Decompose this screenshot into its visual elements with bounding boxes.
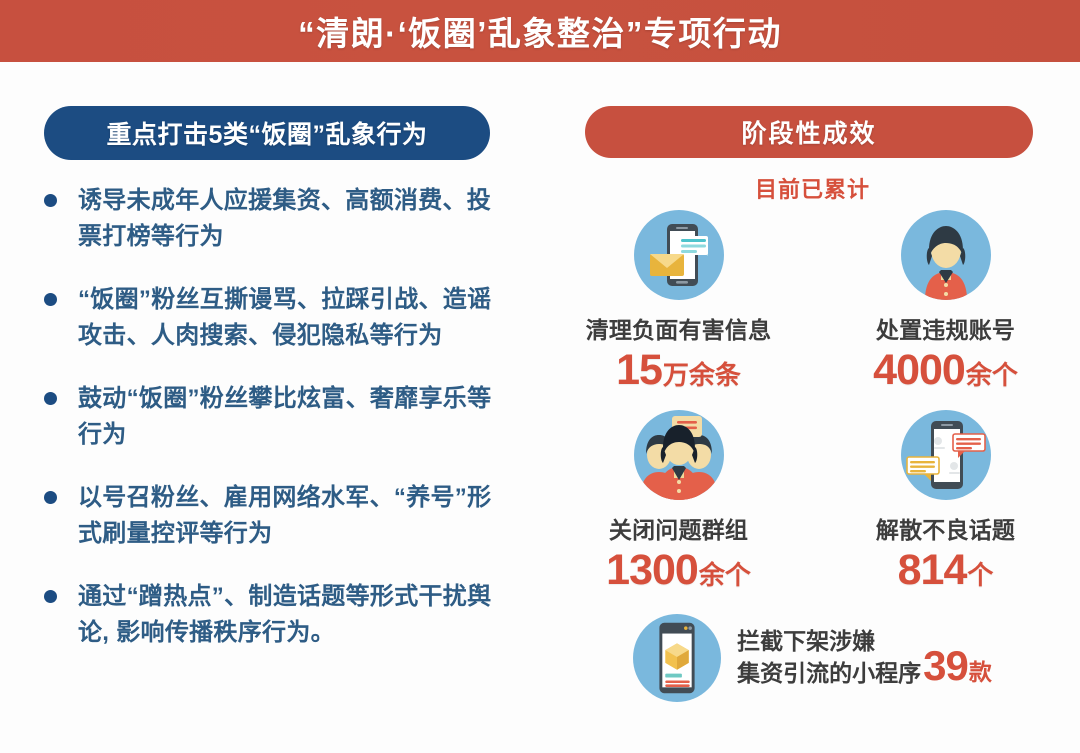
phone-chat-bubbles-icon [901, 410, 991, 500]
left-panel-header-label: 重点打击5类“饭圈”乱象行为 [107, 115, 428, 151]
stat-label: 关闭问题群组 [609, 511, 748, 545]
stat-value: 15 万余条 [616, 346, 741, 395]
stat-card: 解散不良话题 814 个 [812, 410, 1079, 610]
header-banner: “清朗·‘饭圈’乱象整治”专项行动 [0, 0, 1080, 62]
list-item: 通过“蹭热点”、制造话题等形式干扰舆论, 影响传播秩序行为。 [0, 579, 545, 652]
list-item: 诱导未成年人应援集资、高额消费、投票打榜等行为 [0, 183, 545, 256]
stat-label: 处置违规账号 [876, 311, 1015, 345]
right-panel-header-pill: 阶段性成效 [585, 106, 1033, 158]
wide-stat-unit: 款 [969, 653, 992, 687]
bullet-dot-icon [44, 194, 57, 207]
stat-unit: 余个 [966, 355, 1018, 392]
stat-unit: 个 [967, 555, 993, 592]
right-panel: 阶段性成效 目前已累计 [545, 62, 1080, 753]
wide-stat-text: 拦截下架涉嫌 集资引流的小程序 39 款 [737, 626, 992, 689]
stat-number: 4000 [873, 346, 965, 395]
bullet-dot-icon [44, 293, 57, 306]
stat-number: 15 [616, 346, 662, 395]
stat-card-wide: 拦截下架涉嫌 集资引流的小程序 39 款 [545, 614, 1080, 702]
bullet-dot-icon [44, 590, 57, 603]
stat-value: 4000 余个 [873, 346, 1018, 395]
right-panel-header-label: 阶段性成效 [741, 114, 876, 150]
user-avatar-icon-art [901, 210, 991, 300]
stat-unit: 万余条 [663, 355, 741, 392]
phone-miniprogram-icon-art [633, 614, 721, 702]
user-group-chat-icon-art [634, 410, 724, 500]
bullet-dot-icon [44, 392, 57, 405]
list-item-label: 诱导未成年人应援集资、高额消费、投票打榜等行为 [78, 183, 498, 256]
infographic-poster: “清朗·‘饭圈’乱象整治”专项行动 重点打击5类“饭圈”乱象行为 诱导未成年人应… [0, 0, 1080, 753]
stat-value: 1300 余个 [606, 546, 751, 595]
list-item: 鼓动“饭圈”粉丝攀比炫富、奢靡享乐等行为 [0, 381, 545, 454]
phone-miniprogram-icon [633, 614, 721, 702]
stat-number: 1300 [606, 546, 698, 595]
phone-message-envelope-icon [634, 210, 724, 300]
wide-stat-value: 39 款 [923, 642, 992, 690]
user-avatar-icon [901, 210, 991, 300]
stat-label: 解散不良话题 [876, 511, 1015, 545]
violation-list: 诱导未成年人应援集资、高额消费、投票打榜等行为 “饭圈”粉丝互撕谩骂、拉踩引战、… [0, 183, 545, 678]
stat-card: 处置违规账号 4000 余个 [812, 210, 1079, 410]
page-title: “清朗·‘饭圈’乱象整治”专项行动 [298, 7, 782, 55]
left-panel: 重点打击5类“饭圈”乱象行为 诱导未成年人应援集资、高额消费、投票打榜等行为 “… [0, 62, 545, 753]
wide-stat-number: 39 [923, 642, 968, 690]
list-item-label: 通过“蹭热点”、制造话题等形式干扰舆论, 影响传播秩序行为。 [78, 579, 498, 652]
stat-number: 814 [898, 546, 967, 595]
list-item: 以号召粉丝、雇用网络水军、“养号”形式刷量控评等行为 [0, 480, 545, 553]
list-item-label: 以号召粉丝、雇用网络水军、“养号”形式刷量控评等行为 [78, 480, 498, 553]
left-panel-header-pill: 重点打击5类“饭圈”乱象行为 [44, 106, 490, 160]
wide-stat-label-line1: 拦截下架涉嫌 [737, 626, 921, 658]
list-item: “饭圈”粉丝互撕谩骂、拉踩引战、造谣攻击、人肉搜索、侵犯隐私等行为 [0, 282, 545, 355]
right-panel-subtitle: 目前已累计 [545, 172, 1080, 204]
wide-stat-label-line2: 集资引流的小程序 [737, 658, 921, 690]
bullet-dot-icon [44, 491, 57, 504]
stat-card: 清理负面有害信息 15 万余条 [545, 210, 812, 410]
list-item-label: 鼓动“饭圈”粉丝攀比炫富、奢靡享乐等行为 [78, 381, 498, 454]
phone-message-envelope-icon-art [634, 210, 724, 300]
statistics-grid: 清理负面有害信息 15 万余条 [545, 210, 1080, 610]
phone-chat-bubbles-icon-art [901, 410, 991, 500]
list-item-label: “饭圈”粉丝互撕谩骂、拉踩引战、造谣攻击、人肉搜索、侵犯隐私等行为 [78, 282, 498, 355]
stat-unit: 余个 [699, 555, 751, 592]
stat-value: 814 个 [898, 546, 994, 595]
wide-stat-label: 拦截下架涉嫌 集资引流的小程序 [737, 626, 921, 689]
stat-label: 清理负面有害信息 [586, 311, 772, 345]
stat-card: 关闭问题群组 1300 余个 [545, 410, 812, 610]
user-group-chat-icon [634, 410, 724, 500]
